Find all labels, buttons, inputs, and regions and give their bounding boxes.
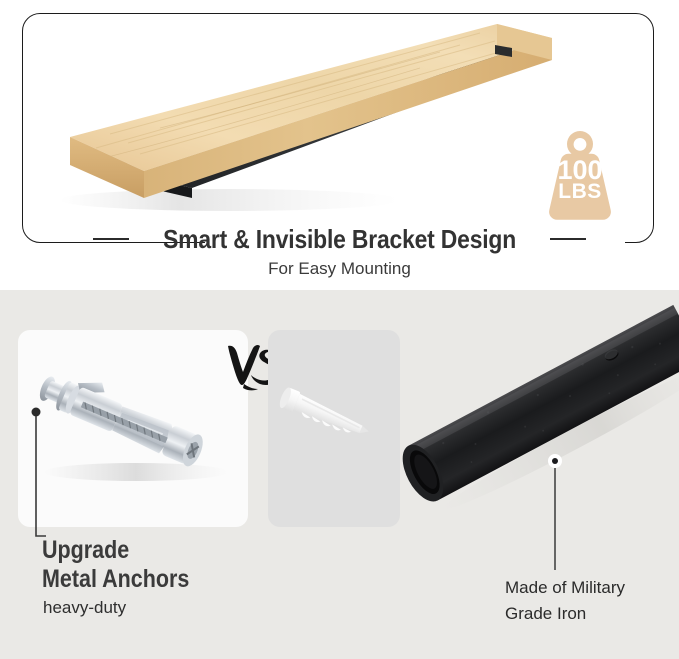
plastic-anchor-image [268,330,400,527]
page-subtitle: For Easy Mounting [0,259,679,279]
iron-pipe-image [398,290,679,540]
left-callout-heading-line2: Metal Anchors [42,565,317,594]
right-callout-line1: Made of Military [505,575,679,601]
floating-shelf-image [40,8,600,223]
title-right-dash [550,238,586,240]
left-callout-leader [24,398,48,544]
callout-dot-icon [32,408,41,417]
top-section: 100 LBS Smart & Invisible Bracket Design… [0,0,679,290]
page-title: Smart & Invisible Bracket Design [163,224,516,255]
weight-unit: LBS [531,182,629,202]
infographic-root: 100 LBS Smart & Invisible Bracket Design… [0,0,679,659]
left-callout-heading-line1: Upgrade [42,536,317,565]
weight-capacity-badge: 100 LBS [531,128,629,224]
left-callout-sub: heavy-duty [43,598,363,618]
right-callout-text: Made of Military Grade Iron [505,575,679,627]
bottom-section: Upgrade Metal Anchors heavy-duty [0,290,679,659]
title-left-dash [93,238,129,240]
metal-anchor-image [18,330,248,527]
plastic-anchor-card [268,330,400,527]
right-callout-leader [540,450,570,580]
metal-anchor-card [18,330,248,527]
left-callout-heading: Upgrade Metal Anchors [42,536,317,594]
feature-title-row: Smart & Invisible Bracket Design [0,222,679,256]
right-callout-line2: Grade Iron [505,601,679,627]
